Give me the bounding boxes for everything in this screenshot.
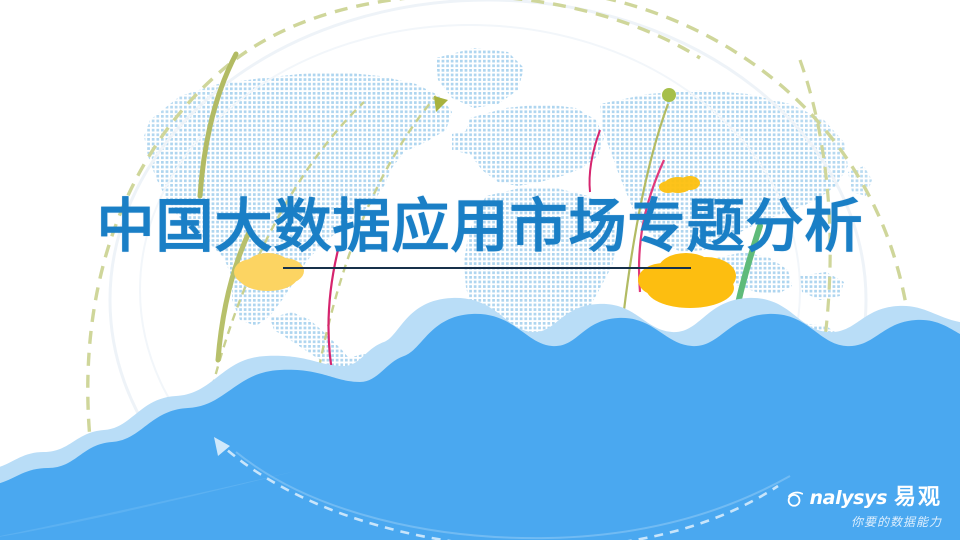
brand-logo: nalysys 易观 你要的数据能力 [786, 487, 942, 530]
cloud-band [0, 0, 960, 540]
logo-wordmark: nalysys [810, 489, 887, 508]
logo-chinese-name: 易观 [894, 487, 942, 509]
analysys-swoosh-icon [786, 491, 803, 508]
logo-row: nalysys 易观 [786, 487, 942, 509]
logo-tagline: 你要的数据能力 [786, 513, 942, 530]
slide-canvas: 中国大数据应用市场专题分析 nalysys 易观 你要的数据能力 [0, 0, 960, 540]
